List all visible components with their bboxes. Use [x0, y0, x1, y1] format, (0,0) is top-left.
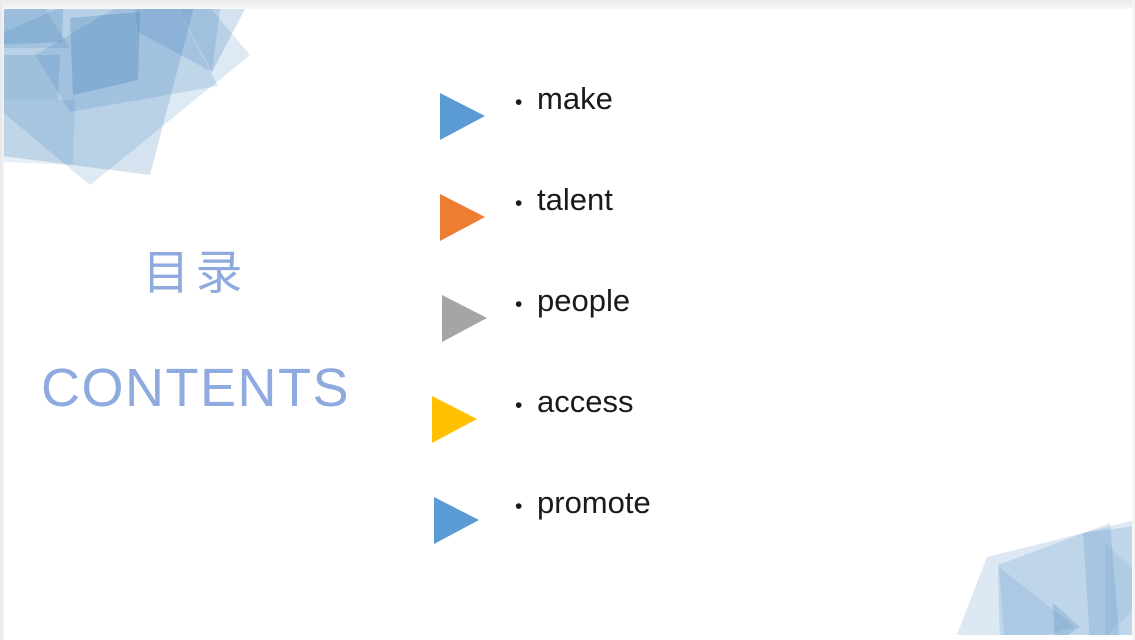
triangle-right-icon [428, 494, 480, 546]
list-item[interactable]: •access [420, 381, 1080, 482]
triangle-right-icon [434, 90, 486, 142]
list-item-text: •promote [515, 487, 651, 518]
list-item[interactable]: •talent [420, 179, 1080, 280]
contents-list: •make •talent •people [420, 78, 1080, 583]
list-item-label: promote [537, 487, 651, 518]
triangle-right-icon [436, 292, 488, 344]
list-item-text: •make [515, 83, 613, 114]
list-item[interactable]: •make [420, 78, 1080, 179]
list-item-label: make [537, 83, 613, 114]
bullet-glyph: • [515, 294, 537, 315]
list-item-text: •access [515, 386, 633, 417]
list-item-label: access [537, 386, 633, 417]
triangle-right-icon [426, 393, 478, 445]
contents-title-block: 目录 CONTENTS [18, 248, 373, 415]
window-edge-left [0, 0, 4, 640]
abstract-polygon-cluster-top-left [0, 0, 300, 215]
list-item[interactable]: •people [420, 280, 1080, 381]
bullet-glyph: • [515, 496, 537, 517]
list-item[interactable]: •promote [420, 482, 1080, 583]
bullet-glyph: • [515, 395, 537, 416]
window-edge-top [0, 0, 1135, 9]
list-item-text: •people [515, 285, 630, 316]
list-item-label: people [537, 285, 630, 316]
page-title-cn: 目录 [18, 248, 373, 299]
page-title-en: CONTENTS [18, 361, 373, 415]
bullet-glyph: • [515, 193, 537, 214]
list-item-label: talent [537, 184, 613, 215]
bullet-glyph: • [515, 92, 537, 113]
list-item-text: •talent [515, 184, 613, 215]
contents-slide: 目录 CONTENTS •make •talent [0, 0, 1135, 640]
triangle-right-icon [434, 191, 486, 243]
